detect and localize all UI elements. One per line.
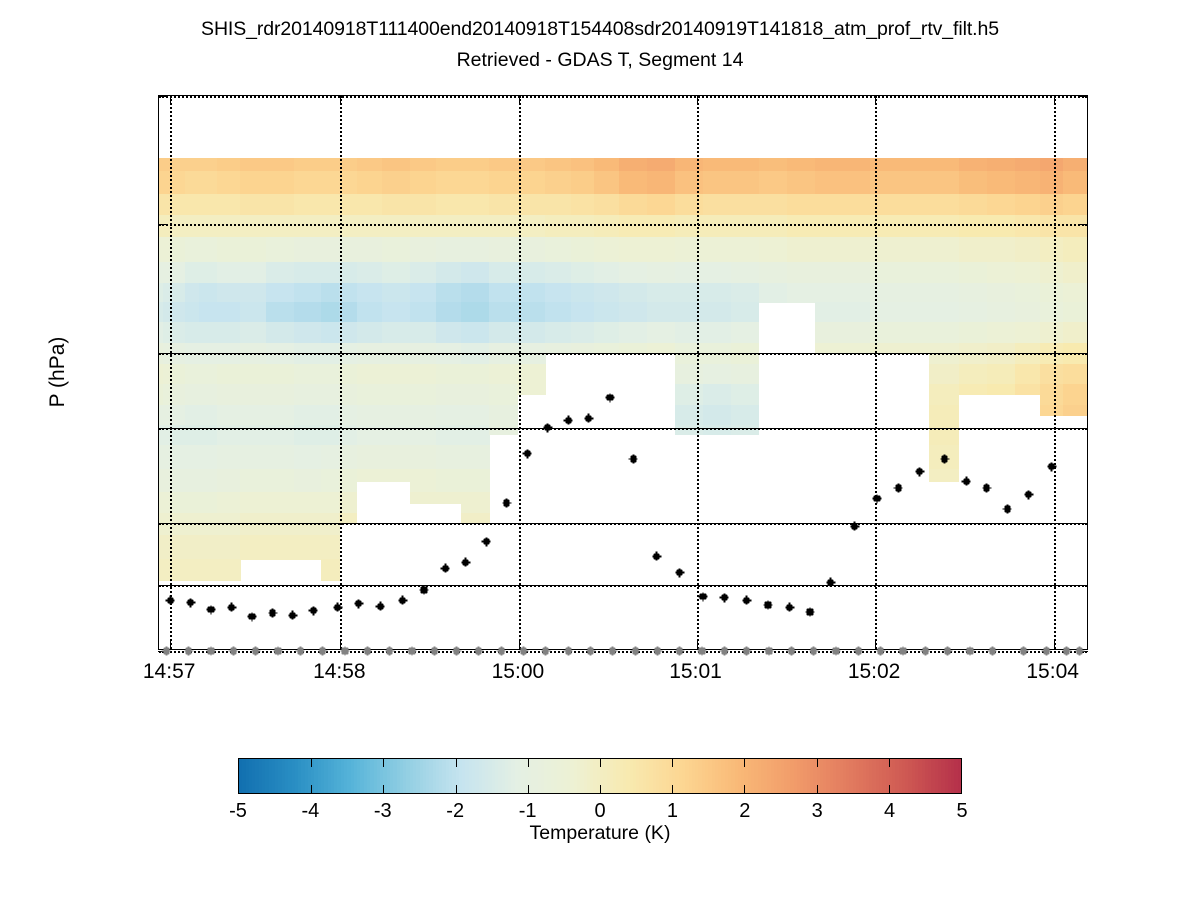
retrieval-pressure-marker bbox=[502, 499, 511, 508]
heatmap-cell bbox=[959, 237, 988, 262]
heatmap-cell bbox=[1015, 322, 1041, 343]
heatmap-cell bbox=[1015, 262, 1041, 284]
y-axis-tick bbox=[1079, 428, 1088, 429]
heatmap-cell bbox=[172, 158, 185, 171]
y-axis-tick bbox=[1079, 523, 1088, 524]
heatmap-cell bbox=[240, 492, 266, 513]
retrieval-pressure-marker bbox=[915, 467, 924, 476]
heatmap-cell bbox=[321, 535, 340, 560]
heatmap-cell bbox=[357, 262, 383, 284]
heatmap-cell bbox=[266, 492, 295, 513]
heatmap-cell bbox=[436, 302, 462, 323]
heatmap-cell bbox=[815, 194, 844, 215]
grid-line-horizontal bbox=[159, 96, 1087, 98]
x-axis-tick bbox=[875, 95, 876, 104]
heatmap-cell bbox=[987, 322, 1016, 343]
heatmap-cell bbox=[675, 302, 704, 323]
heatmap-cell bbox=[185, 384, 200, 405]
heatmap-cell bbox=[703, 171, 732, 195]
heatmap-cell bbox=[517, 237, 546, 262]
heatmap-cell bbox=[321, 364, 340, 385]
surface-pressure-marker bbox=[720, 647, 729, 656]
heatmap-cell bbox=[240, 445, 266, 469]
x-axis-tick-label: 14:58 bbox=[313, 660, 366, 684]
heatmap-cell bbox=[843, 322, 872, 343]
retrieval-pressure-marker bbox=[398, 596, 407, 605]
heatmap-cell bbox=[321, 559, 340, 581]
y-axis-tick bbox=[158, 224, 167, 225]
colorbar-tick-label: 4 bbox=[884, 800, 895, 823]
heatmap-cell bbox=[217, 283, 241, 303]
surface-pressure-marker bbox=[742, 647, 751, 656]
colorbar-segment bbox=[958, 759, 962, 793]
colorbar-tick-label: -3 bbox=[374, 800, 392, 823]
heatmap-cell bbox=[266, 302, 295, 323]
heatmap-cell bbox=[172, 492, 185, 513]
heatmap-cell bbox=[1063, 302, 1087, 323]
heatmap-cell bbox=[898, 322, 929, 343]
heatmap-cell bbox=[266, 171, 295, 195]
heatmap-cell bbox=[199, 322, 218, 343]
heatmap-cell bbox=[357, 302, 383, 323]
heatmap-cell bbox=[517, 262, 546, 284]
retrieval-pressure-marker bbox=[333, 603, 342, 612]
retrieval-pressure-marker bbox=[207, 605, 216, 614]
heatmap-cell bbox=[185, 283, 200, 303]
heatmap-cell bbox=[898, 237, 929, 262]
heatmap-cell bbox=[294, 364, 322, 385]
heatmap-cell bbox=[240, 158, 266, 171]
heatmap-cell bbox=[929, 322, 960, 343]
heatmap-cell bbox=[436, 445, 462, 469]
heatmap-cell bbox=[321, 237, 340, 262]
heatmap-cell bbox=[571, 194, 595, 215]
heatmap-cell bbox=[266, 445, 295, 469]
x-axis-tick-label: 15:02 bbox=[848, 660, 901, 684]
heatmap-cell bbox=[240, 364, 266, 385]
heatmap-cell bbox=[1040, 384, 1064, 405]
heatmap-cell bbox=[1063, 405, 1087, 416]
colorbar-tick bbox=[889, 759, 890, 767]
retrieval-pressure-marker bbox=[268, 609, 277, 618]
heatmap-cell bbox=[898, 302, 929, 323]
heatmap-cell bbox=[619, 171, 648, 195]
heatmap-cell bbox=[321, 469, 340, 493]
heatmap-cell bbox=[815, 322, 844, 343]
heatmap-cell bbox=[461, 364, 490, 385]
retrieval-pressure-marker bbox=[166, 596, 175, 605]
heatmap-cell bbox=[199, 302, 218, 323]
heatmap-cell bbox=[731, 405, 760, 426]
heatmap-cell bbox=[382, 262, 411, 284]
heatmap-cell bbox=[815, 262, 844, 284]
heatmap-cell bbox=[357, 469, 383, 482]
heatmap-cell bbox=[647, 171, 676, 195]
heatmap-cell bbox=[461, 445, 490, 469]
retrieval-pressure-marker bbox=[606, 393, 615, 402]
heatmap-cell bbox=[843, 237, 872, 262]
heatmap-cell bbox=[172, 283, 185, 303]
heatmap-cell bbox=[321, 194, 340, 215]
heatmap-cell bbox=[898, 262, 929, 284]
heatmap-cell bbox=[929, 158, 960, 171]
heatmap-cell bbox=[382, 469, 411, 482]
heatmap-cell bbox=[787, 283, 816, 303]
heatmap-cell bbox=[240, 469, 266, 493]
grid-line-horizontal bbox=[159, 523, 1087, 525]
heatmap-cell bbox=[675, 364, 704, 385]
heatmap-cell bbox=[787, 171, 816, 195]
heatmap-cell bbox=[959, 302, 988, 323]
heatmap-cell bbox=[545, 322, 571, 343]
heatmap-cell bbox=[199, 237, 218, 262]
heatmap-cell bbox=[675, 384, 704, 405]
heatmap-cell bbox=[489, 364, 518, 385]
heatmap-cell bbox=[410, 364, 436, 385]
colorbar-tick bbox=[817, 785, 818, 793]
heatmap-cell bbox=[898, 158, 929, 171]
heatmap-cell bbox=[294, 492, 322, 513]
retrieval-pressure-marker bbox=[806, 608, 815, 617]
colorbar-tick bbox=[311, 785, 312, 793]
heatmap-cell bbox=[489, 158, 518, 171]
heatmap-cell bbox=[815, 302, 844, 323]
heatmap-cell bbox=[545, 262, 571, 284]
heatmap-cell bbox=[294, 237, 322, 262]
surface-pressure-marker bbox=[430, 647, 439, 656]
retrieval-pressure-marker bbox=[482, 537, 491, 546]
heatmap-cell bbox=[217, 469, 241, 493]
heatmap-cell bbox=[294, 384, 322, 405]
heatmap-cell bbox=[619, 283, 648, 303]
retrieval-pressure-marker bbox=[523, 449, 532, 458]
surface-pressure-marker bbox=[497, 647, 506, 656]
heatmap-cell bbox=[461, 492, 490, 513]
heatmap-cell bbox=[787, 194, 816, 215]
retrieval-pressure-marker bbox=[376, 602, 385, 611]
heatmap-cell bbox=[787, 237, 816, 262]
heatmap-cell bbox=[517, 283, 546, 303]
heatmap-cell bbox=[266, 158, 295, 171]
heatmap-cell bbox=[461, 262, 490, 284]
heatmap-cell bbox=[571, 237, 595, 262]
heatmap-cell bbox=[294, 322, 322, 343]
heatmap-cell bbox=[545, 283, 571, 303]
x-axis-tick-label: 15:04 bbox=[1026, 660, 1079, 684]
heatmap-cell bbox=[731, 302, 760, 323]
heatmap-cell bbox=[185, 158, 200, 171]
colorbar-tick-label: 1 bbox=[667, 800, 678, 823]
heatmap-cell bbox=[240, 237, 266, 262]
figure: SHIS_rdr20140918T111400end20140918T15440… bbox=[0, 0, 1200, 900]
heatmap-cell bbox=[199, 194, 218, 215]
heatmap-cell bbox=[594, 262, 620, 284]
heatmap-cell bbox=[461, 237, 490, 262]
heatmap-cell bbox=[1015, 237, 1041, 262]
heatmap-cell bbox=[489, 237, 518, 262]
heatmap-cell bbox=[545, 158, 571, 171]
surface-pressure-marker bbox=[519, 647, 528, 656]
retrieval-pressure-marker bbox=[720, 593, 729, 602]
heatmap-cell bbox=[217, 302, 241, 323]
surface-pressure-marker bbox=[1042, 647, 1051, 656]
colorbar-tick bbox=[383, 759, 384, 767]
heatmap-cell bbox=[357, 405, 383, 426]
heatmap-cell bbox=[1063, 384, 1087, 405]
heatmap-cell bbox=[815, 171, 844, 195]
colorbar-tick bbox=[672, 759, 673, 767]
heatmap-cell bbox=[294, 171, 322, 195]
heatmap-cell bbox=[185, 194, 200, 215]
surface-pressure-marker bbox=[274, 647, 283, 656]
heatmap-cell bbox=[461, 194, 490, 215]
retrieval-pressure-marker bbox=[354, 599, 363, 608]
colorbar-tick bbox=[744, 759, 745, 767]
surface-pressure-marker bbox=[675, 647, 684, 656]
heatmap-cell bbox=[410, 158, 436, 171]
heatmap-cell bbox=[294, 283, 322, 303]
heatmap-cell bbox=[172, 262, 185, 284]
heatmap-cell bbox=[382, 194, 411, 215]
heatmap-cells bbox=[159, 96, 1087, 649]
heatmap-cell bbox=[619, 262, 648, 284]
heatmap-cell bbox=[294, 158, 322, 171]
retrieval-pressure-marker bbox=[1003, 505, 1012, 514]
heatmap-cell bbox=[1063, 364, 1087, 385]
title-line-filename: SHIS_rdr20140918T111400end20140918T15440… bbox=[0, 18, 1200, 41]
heatmap-cell bbox=[517, 384, 546, 394]
heatmap-cell bbox=[594, 302, 620, 323]
heatmap-cell bbox=[172, 559, 185, 581]
heatmap-cell bbox=[987, 262, 1016, 284]
heatmap-cell bbox=[436, 194, 462, 215]
heatmap-cell bbox=[217, 237, 241, 262]
heatmap-cell bbox=[266, 322, 295, 343]
grid-line-horizontal bbox=[159, 353, 1087, 355]
y-axis-tick bbox=[158, 585, 167, 586]
heatmap-cell bbox=[517, 364, 546, 385]
grid-line-vertical bbox=[875, 96, 877, 649]
x-axis-tick bbox=[519, 95, 520, 104]
heatmap-cell bbox=[759, 171, 788, 195]
heatmap-cell bbox=[675, 171, 704, 195]
heatmap-cell bbox=[321, 262, 340, 284]
surface-pressure-marker bbox=[586, 647, 595, 656]
surface-pressure-marker bbox=[876, 647, 885, 656]
heatmap-cell bbox=[1040, 194, 1064, 215]
heatmap-cell bbox=[571, 302, 595, 323]
heatmap-cell bbox=[1040, 322, 1064, 343]
heatmap-cell bbox=[410, 469, 436, 493]
heatmap-cell bbox=[321, 171, 340, 195]
retrieval-pressure-marker bbox=[699, 592, 708, 601]
x-axis-tick-label: 15:00 bbox=[492, 660, 545, 684]
surface-pressure-marker bbox=[541, 647, 550, 656]
heatmap-cell bbox=[571, 262, 595, 284]
heatmap-cell bbox=[410, 283, 436, 303]
heatmap-cell bbox=[199, 559, 218, 581]
figure-title: SHIS_rdr20140918T111400end20140918T15440… bbox=[0, 18, 1200, 72]
colorbar-tick-label: -5 bbox=[229, 800, 247, 823]
heatmap-cell bbox=[172, 469, 185, 493]
heatmap-cell bbox=[1015, 283, 1041, 303]
heatmap-cell bbox=[321, 492, 340, 513]
surface-pressure-marker bbox=[318, 647, 327, 656]
heatmap-cell bbox=[461, 158, 490, 171]
heatmap-cell bbox=[266, 283, 295, 303]
heatmap-cell bbox=[619, 194, 648, 215]
heatmap-cell bbox=[410, 322, 436, 343]
heatmap-cell bbox=[199, 158, 218, 171]
heatmap-cell bbox=[217, 194, 241, 215]
surface-pressure-marker bbox=[765, 647, 774, 656]
y-axis-tick bbox=[1079, 585, 1088, 586]
heatmap-cell bbox=[382, 405, 411, 426]
heatmap-cell bbox=[929, 302, 960, 323]
retrieval-pressure-marker bbox=[940, 455, 949, 464]
x-axis-tick bbox=[340, 95, 341, 104]
colorbar-tick bbox=[672, 785, 673, 793]
heatmap-cell bbox=[266, 262, 295, 284]
heatmap-cell bbox=[545, 171, 571, 195]
heatmap-cell bbox=[759, 158, 788, 171]
heatmap-cell bbox=[172, 302, 185, 323]
surface-pressure-marker bbox=[899, 647, 908, 656]
colorbar-tick bbox=[889, 785, 890, 793]
heatmap-cell bbox=[1063, 262, 1087, 284]
heatmap-cell bbox=[987, 364, 1016, 385]
heatmap-cell bbox=[647, 302, 676, 323]
heatmap-cell bbox=[843, 171, 872, 195]
heatmap-cell bbox=[266, 194, 295, 215]
y-axis-tick bbox=[158, 523, 167, 524]
heatmap-cell bbox=[436, 158, 462, 171]
colorbar-tick bbox=[744, 785, 745, 793]
colorbar bbox=[238, 758, 962, 794]
heatmap-cell bbox=[731, 158, 760, 171]
heatmap-cell bbox=[647, 158, 676, 171]
heatmap-cell bbox=[619, 237, 648, 262]
heatmap-cell bbox=[382, 384, 411, 405]
heatmap-cell bbox=[1040, 237, 1064, 262]
heatmap-cell bbox=[1063, 158, 1087, 171]
heatmap-cell bbox=[410, 262, 436, 284]
heatmap-cell bbox=[843, 262, 872, 284]
heatmap-cell bbox=[489, 405, 518, 426]
heatmap-cell bbox=[987, 384, 1016, 394]
heatmap-cell bbox=[843, 283, 872, 303]
surface-pressure-marker bbox=[631, 647, 640, 656]
heatmap-cell bbox=[199, 492, 218, 513]
heatmap-cell bbox=[843, 194, 872, 215]
retrieval-pressure-marker bbox=[543, 423, 552, 432]
x-axis-tick-label: 15:01 bbox=[669, 660, 722, 684]
heatmap-cell bbox=[815, 237, 844, 262]
colorbar-tick-label: 5 bbox=[956, 800, 967, 823]
surface-pressure-marker bbox=[474, 647, 483, 656]
heatmap-cell bbox=[294, 262, 322, 284]
heatmap-cell bbox=[172, 322, 185, 343]
x-axis-tick bbox=[697, 95, 698, 104]
heatmap-cell bbox=[321, 445, 340, 469]
heatmap-cell bbox=[217, 492, 241, 513]
colorbar-tick bbox=[383, 785, 384, 793]
heatmap-cell bbox=[898, 194, 929, 215]
heatmap-cell bbox=[1063, 171, 1087, 195]
surface-pressure-marker bbox=[363, 647, 372, 656]
grid-line-vertical bbox=[170, 96, 172, 649]
retrieval-pressure-marker bbox=[1047, 462, 1056, 471]
heatmap-cell bbox=[489, 322, 518, 343]
heatmap-cell bbox=[172, 171, 185, 195]
colorbar-tick-label: 2 bbox=[739, 800, 750, 823]
retrieval-pressure-marker bbox=[186, 598, 195, 607]
heatmap-cell bbox=[929, 237, 960, 262]
heatmap-cell bbox=[294, 469, 322, 493]
heatmap-cell bbox=[199, 171, 218, 195]
heatmap-cell bbox=[461, 302, 490, 323]
colorbar-tick-label: -2 bbox=[446, 800, 464, 823]
heatmap-cell bbox=[703, 158, 732, 171]
colorbar-title: Temperature (K) bbox=[530, 822, 671, 845]
heatmap-cell bbox=[461, 405, 490, 426]
heatmap-cell bbox=[436, 469, 462, 493]
heatmap-cell bbox=[703, 194, 732, 215]
heatmap-cell bbox=[571, 283, 595, 303]
surface-pressure-marker bbox=[1019, 647, 1028, 656]
heatmap-cell bbox=[436, 364, 462, 385]
heatmap-cell bbox=[1063, 237, 1087, 262]
heatmap-cell bbox=[1040, 302, 1064, 323]
retrieval-pressure-marker bbox=[675, 568, 684, 577]
heatmap-cell bbox=[266, 237, 295, 262]
heatmap-cell bbox=[703, 364, 732, 385]
grid-line-vertical bbox=[1054, 96, 1056, 649]
heatmap-cell bbox=[321, 283, 340, 303]
retrieval-pressure-marker bbox=[248, 612, 257, 621]
heatmap-cell bbox=[240, 302, 266, 323]
heatmap-cell bbox=[436, 237, 462, 262]
heatmap-cell bbox=[185, 469, 200, 493]
heatmap-cell bbox=[382, 445, 411, 469]
heatmap-cell bbox=[517, 302, 546, 323]
colorbar-tick bbox=[311, 759, 312, 767]
heatmap-cell bbox=[489, 283, 518, 303]
heatmap-cell bbox=[787, 262, 816, 284]
heatmap-cell bbox=[987, 158, 1016, 171]
heatmap-cell bbox=[594, 237, 620, 262]
retrieval-pressure-marker bbox=[873, 494, 882, 503]
surface-pressure-marker bbox=[966, 647, 975, 656]
colorbar-tick bbox=[456, 785, 457, 793]
heatmap-cell bbox=[647, 322, 676, 343]
heatmap-cell bbox=[382, 158, 411, 171]
heatmap-cell bbox=[294, 194, 322, 215]
heatmap-cell bbox=[489, 171, 518, 195]
colorbar-tick bbox=[600, 785, 601, 793]
heatmap-cell bbox=[1040, 364, 1064, 385]
y-axis-tick bbox=[158, 96, 167, 97]
heatmap-cell bbox=[199, 469, 218, 493]
retrieval-pressure-marker bbox=[826, 578, 835, 587]
heatmap-cell bbox=[240, 405, 266, 426]
retrieval-pressure-marker bbox=[764, 601, 773, 610]
heatmap-cell bbox=[929, 283, 960, 303]
heatmap-cell bbox=[929, 469, 960, 482]
retrieval-pressure-marker bbox=[629, 455, 638, 464]
heatmap-cell bbox=[703, 283, 732, 303]
heatmap-cell bbox=[675, 322, 704, 343]
